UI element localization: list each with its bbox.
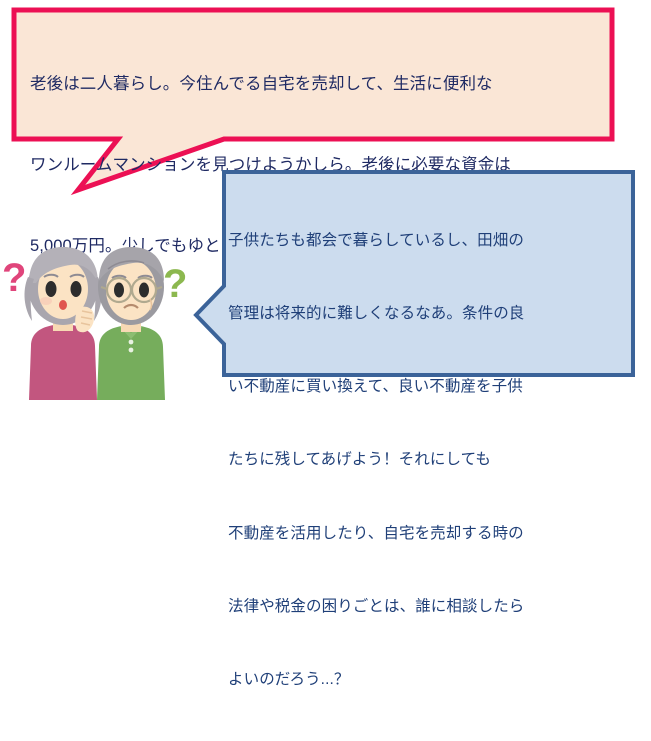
husband-text-line-5: 不動産を活用したり、自宅を売却する時の	[228, 522, 628, 546]
woman-cheek-blush	[40, 297, 52, 305]
woman-top	[29, 325, 97, 400]
husband-text-line-3: い不動産に買い換えて、良い不動産を子供	[228, 375, 628, 399]
woman-mouth	[59, 300, 67, 310]
husband-speech-bubble: 子供たちも都会で暮らしているし、田畑の 管理は将来的に難しくなるなあ。条件の良 …	[180, 168, 651, 400]
husband-text-line-1: 子供たちも都会で暮らしているし、田畑の	[228, 229, 628, 253]
elderly-woman-figure	[25, 247, 102, 400]
woman-question-mark-icon: ?	[2, 256, 26, 300]
wife-text-line-1: 老後は二人暮らし。今住んでる自宅を売却して、生活に便利な	[30, 71, 600, 98]
man-eye-left	[114, 283, 124, 298]
elderly-man-figure	[97, 247, 165, 400]
man-button-bottom	[129, 348, 134, 353]
man-question-mark-icon: ?	[163, 262, 187, 306]
man-button-top	[129, 340, 134, 345]
husband-bubble-text: 子供たちも都会で暮らしているし、田畑の 管理は将来的に難しくなるなあ。条件の良 …	[228, 180, 628, 741]
elderly-couple-illustration: ? ?	[0, 243, 190, 400]
woman-eye-right	[71, 281, 82, 297]
husband-text-line-4: たちに残してあげよう！それにしても	[228, 448, 628, 472]
husband-text-line-7: よいのだろう...？	[228, 668, 628, 692]
husband-text-line-6: 法律や税金の困りごとは、誰に相談したら	[228, 595, 628, 619]
woman-eye-left	[46, 281, 57, 297]
husband-text-line-2: 管理は将来的に難しくなるなあ。条件の良	[228, 302, 628, 326]
man-eye-right	[139, 283, 149, 298]
